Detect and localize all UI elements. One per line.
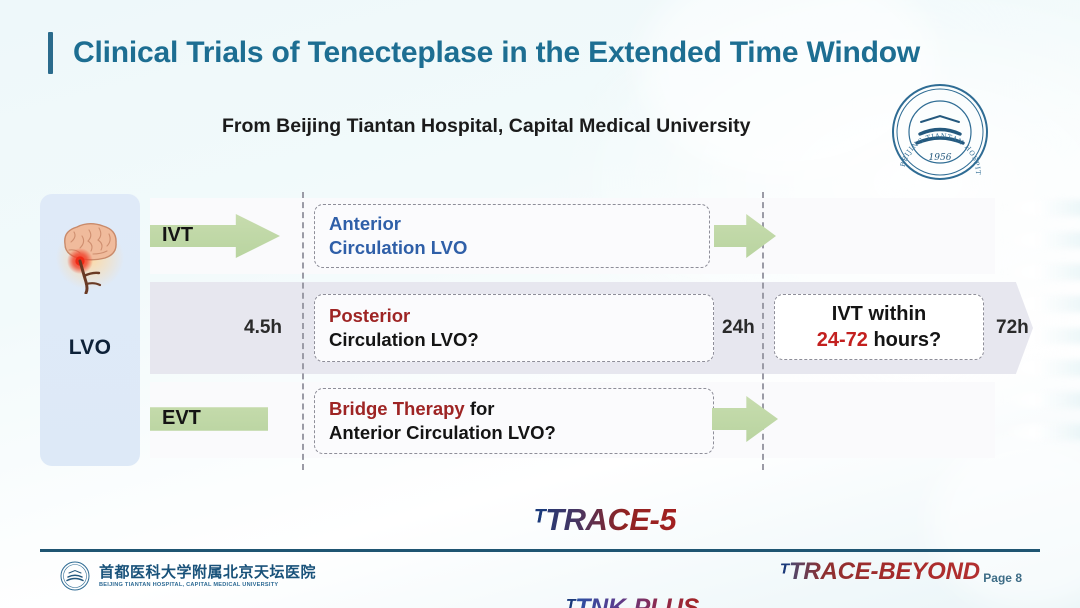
footer-brand: 首都医科大学附属北京天坛医院 BEIJING TIANTAN HOSPITAL,… <box>60 561 316 591</box>
footer-brand-cn: 首都医科大学附属北京天坛医院 <box>99 564 316 581</box>
extended-window-box[interactable]: IVT within 24-72 hours? <box>774 294 984 360</box>
trace-beyond-t-mark: T <box>780 561 789 577</box>
trace-iii-description: Anterior Circulation LVO <box>315 212 467 259</box>
treatment-timeline-diagram: LVO 4.5h 24h 72h IVT Anterior Circulatio… <box>0 190 1080 480</box>
footer-seal-icon <box>60 561 90 591</box>
time-label-4-5h: 4.5h <box>244 317 282 339</box>
page-number: Page 8 <box>983 571 1022 585</box>
trace-5-t-mark: T <box>534 507 545 528</box>
tnk-plus-line2: Anterior Circulation LVO? <box>329 421 556 445</box>
trial-box-trace-5[interactable]: Posterior Circulation LVO? <box>314 294 714 362</box>
time-divider-4-5h <box>302 192 304 470</box>
trace-iii-line1: Anterior <box>329 212 467 236</box>
trial-logo-trace-beyond: TTRACE-BEYOND <box>780 558 980 586</box>
extended-window-range: 24-72 <box>817 329 868 351</box>
lvo-label: LVO <box>69 336 112 360</box>
trial-logo-trace-5: TTRACE-5 <box>534 502 676 538</box>
title-accent-bar <box>48 32 53 74</box>
extended-window-text: IVT within 24-72 hours? <box>775 301 983 353</box>
trial-box-trace-iii[interactable]: Anterior Circulation LVO <box>314 204 710 268</box>
time-label-24h: 24h <box>722 317 755 339</box>
tnk-plus-t-mark: T <box>566 597 575 608</box>
tnk-plus-description: Bridge Therapy for Anterior Circulation … <box>315 397 556 444</box>
trial-box-tnk-plus[interactable]: Bridge Therapy for Anterior Circulation … <box>314 388 714 454</box>
trial-logo-tnk-plus: TTNK-PLUS <box>566 594 699 608</box>
footer-brand-en: BEIJING TIANTAN HOSPITAL, CAPITAL MEDICA… <box>99 582 316 588</box>
evt-label: EVT <box>162 407 201 430</box>
ivt-label: IVT <box>162 224 193 247</box>
trace-5-logo-text: TRACE-5 <box>545 502 676 537</box>
trace-5-line2: Circulation LVO? <box>329 328 479 352</box>
trace-beyond-logo-text: TRACE-BEYOND <box>789 558 980 585</box>
footer-brand-text: 首都医科大学附属北京天坛医院 BEIJING TIANTAN HOSPITAL,… <box>99 564 316 589</box>
extended-window-line2: 24-72 hours? <box>775 327 983 353</box>
trace-iii-line2: Circulation LVO <box>329 236 467 260</box>
trace-5-line1: Posterior <box>329 304 479 328</box>
extended-window-line1: IVT within <box>775 301 983 327</box>
seal-year: 1956 <box>929 153 952 163</box>
extended-window-hours: hours? <box>873 329 941 351</box>
trace-5-description: Posterior Circulation LVO? <box>315 304 479 351</box>
slide-subtitle: From Beijing Tiantan Hospital, Capital M… <box>222 115 750 138</box>
hospital-seal-icon: 1956 BEIJING TIANTAN HOSPITAL CMU <box>890 82 990 182</box>
tnk-plus-logo-text: TNK-PLUS <box>575 594 699 608</box>
time-label-72h: 72h <box>996 317 1029 339</box>
footer-divider <box>40 549 1040 552</box>
lvo-source-card: LVO <box>40 194 140 466</box>
slide-header: Clinical Trials of Tenecteplase in the E… <box>48 32 1020 74</box>
tnk-plus-line1-accent: Bridge Therapy <box>329 398 465 419</box>
tnk-plus-line1-suffix: for <box>470 398 495 419</box>
brain-occlusion-icon <box>53 216 127 294</box>
tnk-plus-line1: Bridge Therapy for <box>329 397 556 421</box>
page-title: Clinical Trials of Tenecteplase in the E… <box>73 36 920 70</box>
